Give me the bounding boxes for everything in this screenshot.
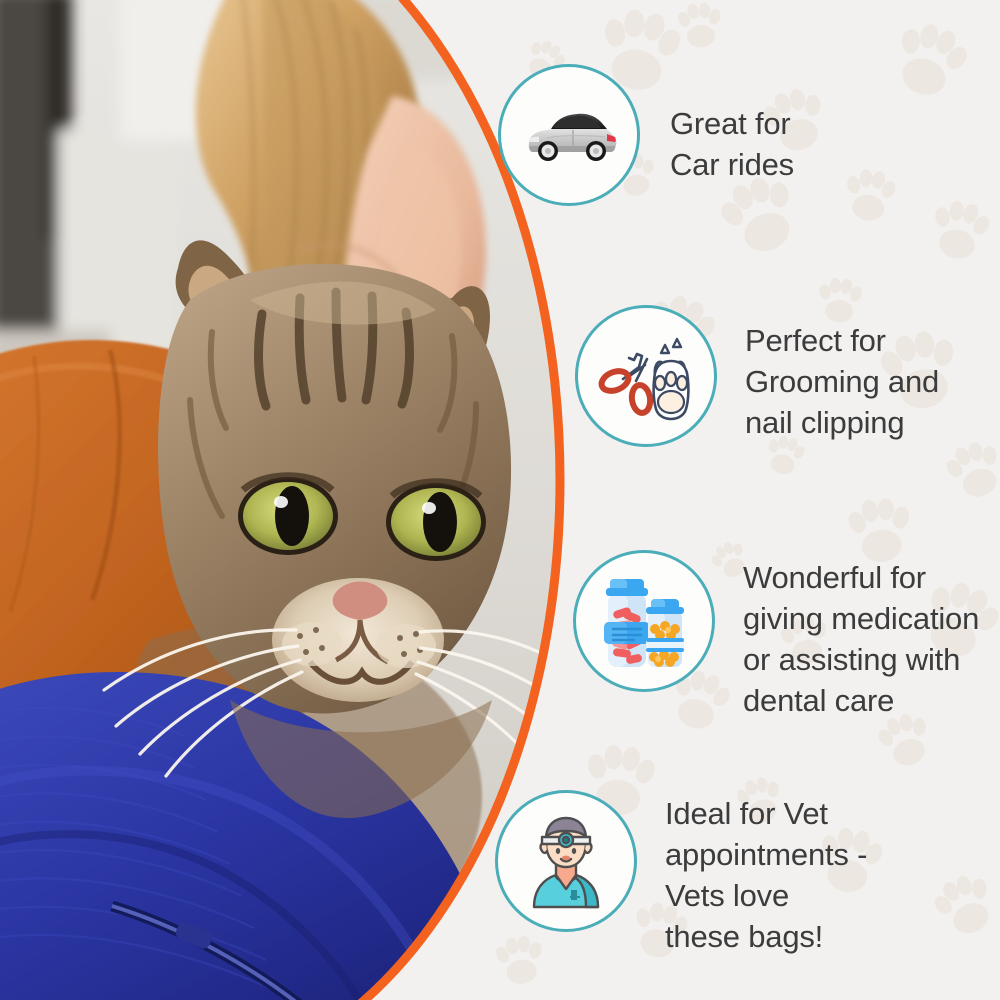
feature-item-medication: Wonderful for giving medication or assis… bbox=[573, 550, 979, 722]
nail-clipper-paw-icon bbox=[593, 323, 699, 429]
car-icon-badge bbox=[498, 64, 640, 206]
nail-clipper-paw-icon-badge bbox=[575, 305, 717, 447]
feature-label-medication: Wonderful for giving medication or assis… bbox=[743, 558, 979, 722]
feature-list: Great for Car rides bbox=[0, 0, 1000, 1000]
pill-bottles-icon-badge bbox=[573, 550, 715, 692]
car-icon bbox=[517, 83, 621, 187]
feature-label-grooming: Perfect for Grooming and nail clipping bbox=[745, 321, 939, 444]
feature-label-vet: Ideal for Vet appointments - Vets love t… bbox=[665, 794, 867, 958]
infographic-canvas: Great for Car rides bbox=[0, 0, 1000, 1000]
feature-item-car-rides: Great for Car rides bbox=[498, 64, 794, 206]
feature-item-grooming: Perfect for Grooming and nail clipping bbox=[575, 305, 939, 447]
veterinarian-icon bbox=[514, 809, 618, 913]
veterinarian-icon-badge bbox=[495, 790, 637, 932]
pill-bottles-icon bbox=[592, 569, 696, 673]
feature-label-car-rides: Great for Car rides bbox=[670, 104, 794, 186]
feature-item-vet: Ideal for Vet appointments - Vets love t… bbox=[495, 790, 867, 958]
